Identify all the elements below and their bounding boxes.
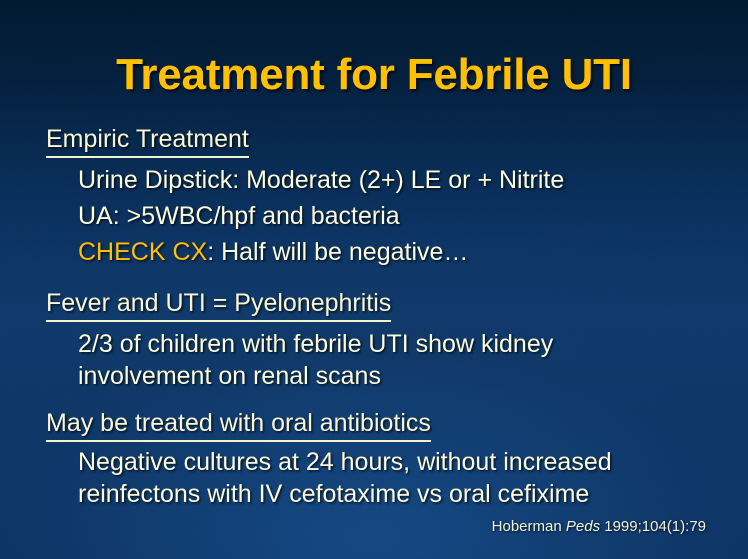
bullet-kidney-involvement-line2: involvement on renal scans — [78, 362, 381, 391]
citation-journal: Peds — [566, 518, 600, 535]
bullet-ua-wbc: UA: >5WBC/hpf and bacteria — [78, 202, 400, 231]
section-heading-fever-uti-pyelonephritis: Fever and UTI = Pyelonephritis — [46, 289, 391, 322]
section-heading-oral-antibiotics: May be treated with oral antibiotics — [46, 409, 431, 442]
bullet-check-cx-rest: : Half will be negative… — [207, 238, 468, 266]
bullet-ua-wbc-text: UA: >5WBC/hpf and bacteria — [78, 202, 400, 230]
section-heading-fever-uti-pyelonephritis-text: Fever and UTI = Pyelonephritis — [46, 289, 391, 322]
section-heading-empiric-treatment: Empiric Treatment — [46, 125, 249, 158]
citation-reference: 1999;104(1):79 — [604, 518, 706, 535]
bullet-check-cx-highlight: CHECK CX — [78, 238, 207, 266]
slide-title: Treatment for Febrile UTI — [0, 50, 748, 100]
bullet-check-cx: CHECK CX: Half will be negative… — [78, 238, 468, 267]
section-heading-empiric-treatment-text: Empiric Treatment — [46, 125, 249, 158]
bullet-negative-cultures-line2: reinfectons with IV cefotaxime vs oral c… — [78, 480, 589, 509]
citation: Hoberman Peds 1999;104(1):79 — [492, 518, 706, 535]
bullet-kidney-involvement-line1: 2/3 of children with febrile UTI show ki… — [78, 330, 553, 359]
section-heading-oral-antibiotics-text: May be treated with oral antibiotics — [46, 409, 431, 442]
slide-canvas: Treatment for Febrile UTI Empiric Treatm… — [0, 0, 748, 559]
bullet-urine-dipstick: Urine Dipstick: Moderate (2+) LE or + Ni… — [78, 166, 564, 195]
slide-content: Treatment for Febrile UTI Empiric Treatm… — [0, 0, 748, 559]
citation-author: Hoberman — [492, 518, 562, 535]
bullet-negative-cultures-line1: Negative cultures at 24 hours, without i… — [78, 448, 612, 477]
